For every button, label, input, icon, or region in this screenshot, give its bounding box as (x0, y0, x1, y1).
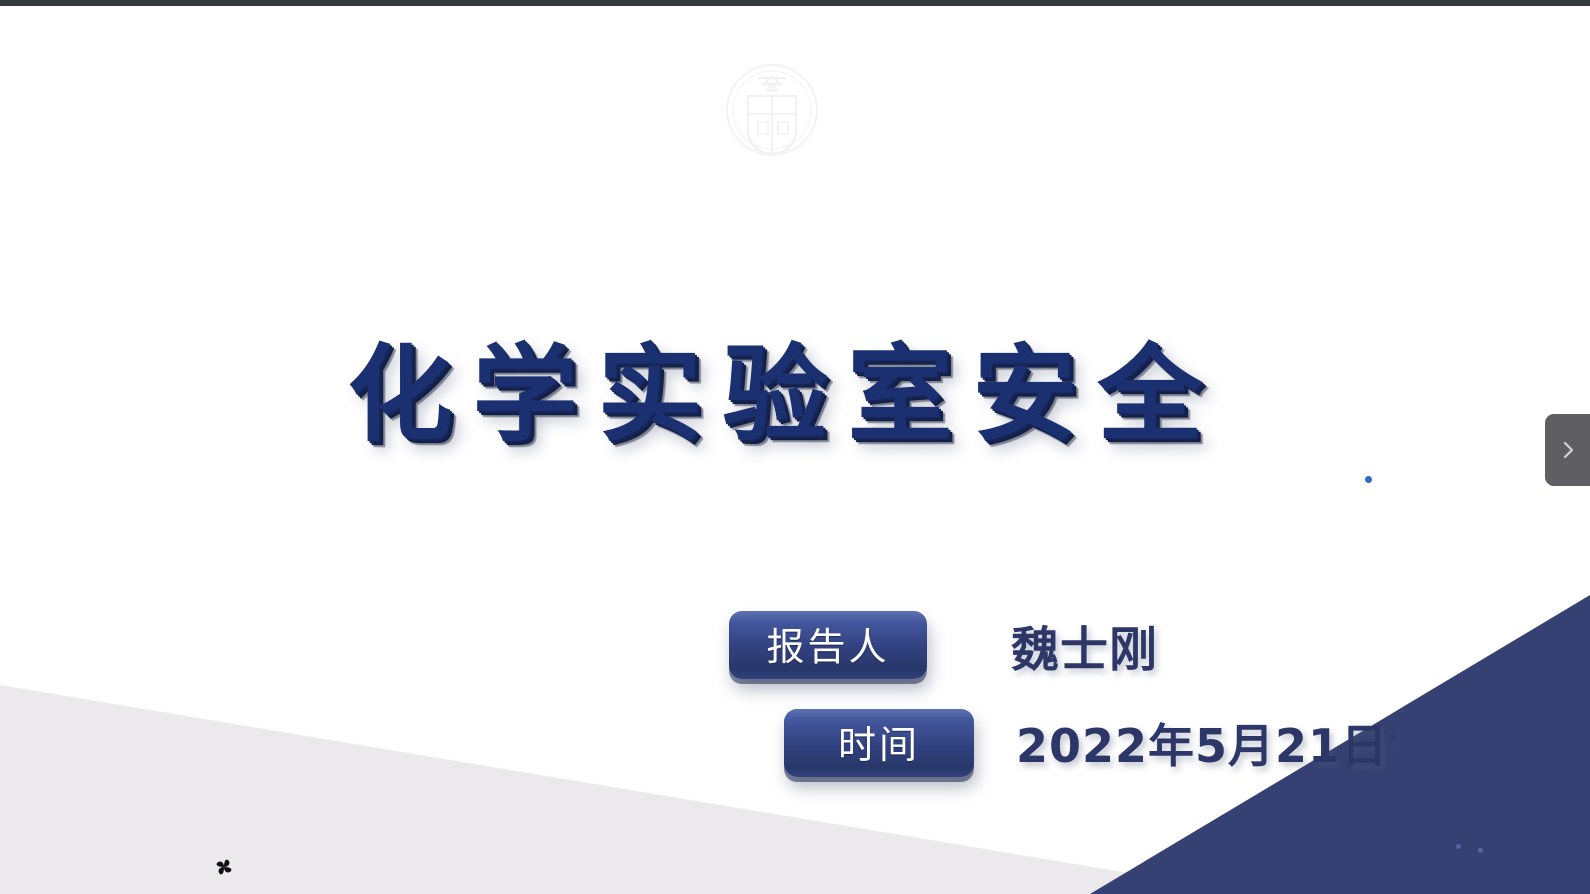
university-crest-icon (724, 58, 820, 162)
chevron-right-icon (1558, 437, 1578, 463)
decorative-navy-dot (1478, 848, 1483, 853)
presenter-badge: 报告人 (729, 611, 927, 679)
time-row: 时间 2022年5月21日· (784, 709, 1399, 777)
slide-title: 化学实验室安全 (0, 342, 1590, 449)
player-top-bar (0, 0, 1590, 6)
time-value: 2022年5月21日· (1016, 710, 1399, 776)
panel-toggle-button[interactable]: 展开 (1545, 414, 1590, 486)
presenter-row: 报告人 魏士刚 (729, 610, 1158, 680)
slide-player-stage: 化学实验室安全 报告人 魏士刚 时间 2022年5月21日· (0, 0, 1590, 894)
decorative-accent-dot (1365, 476, 1372, 483)
time-badge: 时间 (784, 709, 974, 777)
pinwheel-logo-icon (213, 856, 235, 878)
presenter-name: 魏士刚 (1011, 610, 1158, 680)
slide-canvas: 化学实验室安全 报告人 魏士刚 时间 2022年5月21日· (0, 6, 1590, 894)
time-value-text: 2022年5月21日 (1016, 719, 1388, 773)
slide-title-text: 化学实验室安全 (327, 342, 1222, 449)
time-value-suffix: · (1388, 723, 1399, 753)
decorative-navy-dot (1456, 844, 1461, 849)
